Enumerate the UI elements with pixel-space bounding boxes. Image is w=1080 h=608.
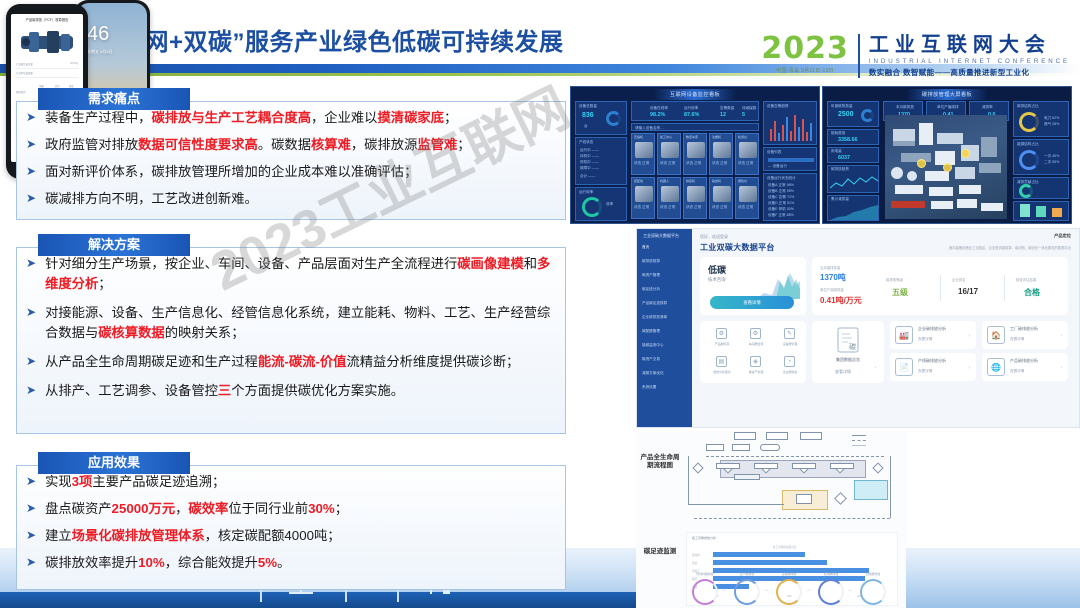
device-tile-label: 焊接机 bbox=[686, 179, 695, 183]
highlight-text: 3项 bbox=[72, 474, 93, 489]
device-tile-status: 状态 正常 bbox=[660, 205, 675, 210]
bullet-item: ➤碳减排方向不明，工艺改进创新难。 bbox=[26, 189, 554, 209]
panel-solution: 解决方案 ➤针对细分生产场景，按企业、车间、设备、产品层面对生产全流程进行碳画像… bbox=[16, 234, 566, 434]
metric-value: 五级 bbox=[892, 287, 908, 298]
plain-text: ，碳排放源 bbox=[351, 137, 417, 152]
platform-menu-item[interactable]: 系统设置 bbox=[642, 385, 656, 390]
plain-text: 实现 bbox=[45, 474, 72, 489]
analysis-card-icon: 🏭 bbox=[895, 326, 913, 344]
quick-action[interactable]: ⚙产品碳核算 bbox=[706, 327, 738, 353]
plain-text: ，综合能效提升 bbox=[165, 555, 258, 570]
platform-sidebar-logo: 工业双碳大数据平台 bbox=[643, 233, 679, 239]
kpi-label: 设备总数量 bbox=[579, 104, 597, 109]
donut-chart bbox=[1019, 112, 1039, 132]
plain-text: ； bbox=[98, 276, 111, 291]
highlight-text: 能流-碳流-价值 bbox=[258, 354, 347, 369]
document-icon: 碳 bbox=[837, 327, 859, 353]
quick-action-label: 企业碳档案 bbox=[774, 370, 806, 374]
plain-text: 碳减排方向不明，工艺改进创新难。 bbox=[45, 191, 258, 206]
metric-value: 0.41吨/万元 bbox=[820, 295, 862, 306]
sea-band bbox=[0, 592, 680, 608]
kpi-label: 本月碳排放 bbox=[896, 105, 914, 110]
quick-action-label: 设备碳管理 bbox=[774, 342, 806, 346]
plain-text: 的映射关系； bbox=[165, 325, 245, 340]
plain-text: 位于同行业前 bbox=[228, 501, 308, 516]
kpi-label: 待维保数 bbox=[742, 106, 756, 111]
rating-mini-chart bbox=[756, 269, 800, 299]
donut-label: 生产碳排放 bbox=[730, 572, 764, 576]
rating-cta-label: 查看详情 bbox=[743, 300, 761, 305]
plain-text: 。碳数据 bbox=[258, 137, 311, 152]
card-group-overview[interactable]: 碳 集团数据总览 查看详情 › bbox=[812, 321, 884, 383]
quick-action[interactable]: ▤能效分析报表 bbox=[706, 355, 738, 381]
arrow-right-icon: → bbox=[847, 587, 853, 593]
analysis-card-cta[interactable]: 查看详情 bbox=[1010, 369, 1024, 374]
bullet-item: ➤对接能源、设备、生产信息化、经管信息化系统，建立能耗、物料、工艺、生产经营综合… bbox=[26, 303, 554, 343]
logo-text-block: 工业互联网大会 INDUSTRIAL INTERNET CONFERENCE 数… bbox=[869, 34, 1070, 78]
bullet-arrow-icon: ➤ bbox=[26, 135, 36, 154]
bullet-item: ➤政府监管对排放数据可信性度要求高。碳数据核算难，碳排放源监管难； bbox=[26, 135, 554, 155]
metric-value: 1370吨 bbox=[820, 272, 846, 283]
device-thumbnail bbox=[713, 186, 731, 202]
trace-chart-label: 碳足迹监测 bbox=[638, 548, 682, 556]
analysis-card[interactable]: 🏠工厂碳排放分析查看详情› bbox=[982, 321, 1068, 349]
kpi-value: 12 bbox=[720, 112, 726, 118]
svg-text:碳: 碳 bbox=[849, 342, 856, 351]
slide-root: “工业互联网+双碳”服务产业绿色低碳可持续发展 2023 中国·青岛 9月11日… bbox=[0, 0, 1080, 608]
kpi-label: 运行效率 bbox=[579, 190, 593, 195]
metric-label: 年度碳排放量 bbox=[831, 104, 853, 109]
kpi-card-efficiency: 运行效率 效率 bbox=[575, 187, 627, 221]
bullet-text: 针对细分生产场景，按企业、车间、设备、产品层面对生产全流程进行碳画像建模和多维度… bbox=[45, 254, 554, 294]
bullet-arrow-icon: ➤ bbox=[26, 162, 36, 181]
metric-value: 6037 bbox=[838, 155, 850, 161]
bullet-item: ➤从产品全生命周期碳足迹和生产过程能流-碳流-价值流精益分析维度提供碳诊断； bbox=[26, 352, 554, 372]
analysis-card-title: 企业碳排放分析 bbox=[918, 326, 946, 332]
chevron-right-icon: › bbox=[1060, 333, 1062, 339]
plain-text: ，核定碳配额4000吨； bbox=[205, 528, 341, 543]
highlight-text: 5% bbox=[258, 555, 277, 570]
panel-results: 应用效果 ➤实现3项主要产品碳足迹追溯；➤盘点碳资产25000万元，碳效率位于同… bbox=[16, 452, 566, 590]
report-row-label: 产品单位碳排量 bbox=[16, 71, 33, 75]
bullet-item: ➤从排产、工艺调参、设备管控三个方面提供碳优化方案实施。 bbox=[26, 381, 554, 401]
highlight-text: 数据可信性度要求高 bbox=[138, 137, 258, 152]
platform-menu-item[interactable]: 碳排放核算 bbox=[642, 259, 660, 264]
panel-heading-results: 应用效果 bbox=[38, 452, 190, 474]
donut-chart bbox=[818, 579, 844, 605]
flow-legend bbox=[852, 432, 904, 448]
analysis-card-icon: 🌐 bbox=[987, 358, 1005, 376]
panel-bar-stack bbox=[1013, 201, 1069, 221]
device-thumbnail bbox=[739, 142, 757, 158]
quick-action[interactable]: ◔企业碳档案 bbox=[774, 355, 806, 381]
highlight-text: 25000万元 bbox=[112, 501, 176, 516]
bullet-item: ➤实现3项主要产品碳足迹追溯； bbox=[26, 472, 554, 492]
quick-action-label: 碳资产管理 bbox=[740, 370, 772, 374]
panel-ring-2: 能源结构占比 一次 45% 二次 55% bbox=[1013, 139, 1069, 175]
highlight-text: 碳画像建模 bbox=[457, 256, 523, 271]
plain-text: 主要产品碳足迹追溯； bbox=[92, 474, 225, 489]
quick-action-icon: ▤ bbox=[716, 356, 727, 367]
platform-menu-item[interactable]: 减碳方案优化 bbox=[642, 371, 664, 376]
panel-trend-line: 碳排放趋势 bbox=[827, 165, 879, 193]
bullet-arrow-icon: ➤ bbox=[26, 108, 36, 127]
metric-value: 3358.66 bbox=[838, 137, 858, 143]
highlight-text: 碳效率 bbox=[188, 501, 228, 516]
plain-text: 从排产、工艺调参、设备管控 bbox=[45, 383, 218, 398]
logo-separator bbox=[858, 34, 860, 78]
plain-text: ， bbox=[175, 501, 188, 516]
search-bar[interactable]: 请输入设备名称… bbox=[631, 123, 759, 131]
bullet-item: ➤盘点碳资产25000万元，碳效率位于同行业前30%； bbox=[26, 499, 554, 519]
analysis-card-icon: 📄 bbox=[895, 358, 913, 376]
platform-greeting: 您好，欢迎登录 bbox=[700, 234, 728, 240]
device-tile[interactable]: 加工中心状态 正常 bbox=[657, 133, 681, 175]
device-tile-label: 机器人 bbox=[660, 179, 669, 183]
flow-diagram-label: 产品全生命周期流程图 bbox=[638, 454, 682, 470]
plain-text: ； bbox=[335, 501, 348, 516]
highlight-text: 场景化碳排放管理体系 bbox=[72, 528, 205, 543]
donut-label: 运输碳排放 bbox=[772, 572, 806, 576]
quick-action-label: 产品碳核算 bbox=[706, 342, 738, 346]
kpi-label: 产线状态 bbox=[579, 140, 593, 145]
bullet-list-solution: ➤针对细分生产场景，按企业、车间、设备、产品层面对生产全流程进行碳画像建模和多维… bbox=[16, 234, 566, 416]
plain-text: 政府监管对排放 bbox=[45, 137, 138, 152]
quick-action-icon: ✎ bbox=[784, 328, 795, 339]
plain-text: 建立 bbox=[45, 528, 72, 543]
bullet-text: 装备生产过程中，碳排放与生产工艺耦合度高，企业难以摸清碳家底； bbox=[45, 108, 554, 128]
logo-date: 中国·青岛 9月11日-13日 bbox=[761, 67, 849, 74]
bullet-arrow-icon: ➤ bbox=[26, 254, 36, 273]
quick-action[interactable]: ⚙车间碳监测 bbox=[740, 327, 772, 353]
rating-cta-button[interactable]: 查看详情 bbox=[710, 296, 794, 309]
device-tile-label: 检测台 bbox=[738, 135, 747, 139]
kpi-label: 运行效率 bbox=[684, 106, 698, 111]
product-photo bbox=[17, 26, 77, 58]
screenshot-carbon-platform[interactable]: 工业双碳大数据平台 首页碳排放核算碳资产管理碳足迹分析产品碳足迹核算企业碳排放清… bbox=[636, 228, 1080, 428]
report-row-label: 产品碳足迹总量 bbox=[16, 62, 33, 66]
analysis-card-icon: 🏠 bbox=[987, 326, 1005, 344]
metric-label: 单位产品碳排量 bbox=[820, 287, 844, 292]
diagram-lifecycle-and-trace: 产品全生命周期流程图 碳足迹监测 bbox=[636, 432, 906, 608]
plain-text: 和 bbox=[524, 256, 537, 271]
metric-value: 2500 bbox=[838, 111, 854, 118]
rating-subtitle: 技术咨询 bbox=[708, 277, 726, 283]
bullet-item: ➤面对新评价体系，碳排放管理所增加的企业成本难以准确评估； bbox=[26, 162, 554, 182]
device-thumbnail bbox=[661, 186, 679, 202]
bullet-text: 面对新评价体系，碳排放管理所增加的企业成本难以准确评估； bbox=[45, 162, 554, 182]
panel-device-list: 设备列表 — 设备运行 bbox=[763, 147, 817, 171]
device-tile-status: 状态 正常 bbox=[712, 161, 727, 166]
device-tile[interactable]: 注塑机状态 正常 bbox=[709, 133, 733, 175]
panel-label: 设备运行状态统计 bbox=[767, 176, 796, 181]
donut-label: 回收碳排放 bbox=[856, 572, 890, 576]
device-tile[interactable]: 机器人状态 正常 bbox=[657, 177, 681, 219]
analysis-card[interactable]: 🏭企业碳排放分析查看详情› bbox=[890, 321, 976, 349]
trace-chart-title: 各工序碳排放量对比 bbox=[773, 545, 796, 549]
bullet-arrow-icon: ➤ bbox=[26, 472, 36, 491]
bullet-item: ➤碳排放效率提升10%，综合能效提升5%。 bbox=[26, 553, 554, 573]
plain-text: 从产品全生命周期碳足迹和生产过程 bbox=[45, 354, 258, 369]
chevron-right-icon: › bbox=[968, 365, 970, 371]
screenshot-plant-dashboard[interactable]: 碳排放管理大屏看板 年度碳排放量 2500 能耗费用 3358.66 用电量 6… bbox=[822, 86, 1072, 224]
donut-chart bbox=[1019, 150, 1039, 170]
platform-title: 工业双碳大数据平台 bbox=[700, 242, 775, 253]
chevron-right-icon: › bbox=[968, 333, 970, 339]
plant-3d-view[interactable] bbox=[885, 115, 1007, 219]
analysis-card-title: 工厂碳排放分析 bbox=[1010, 326, 1038, 332]
metric-value: 合格 bbox=[1024, 287, 1040, 298]
device-tile-label: 装配线 bbox=[634, 179, 643, 183]
platform-menu-item[interactable]: 能碳监测中心 bbox=[642, 343, 664, 348]
bullet-arrow-icon: ➤ bbox=[26, 499, 36, 518]
analysis-card-cta[interactable]: 查看详情 bbox=[918, 337, 932, 342]
area-chart bbox=[830, 204, 878, 220]
plain-text: ，企业难以 bbox=[311, 110, 377, 125]
bullet-item: ➤装备生产过程中，碳排放与生产工艺耦合度高，企业难以摸清碳家底； bbox=[26, 108, 554, 128]
platform-menu-item[interactable]: 碳足迹分析 bbox=[642, 287, 660, 292]
arrow-right-icon: → bbox=[805, 587, 811, 593]
device-tile-label: 加工中心 bbox=[660, 135, 672, 139]
kpi-label: 单位产值碳排 bbox=[937, 105, 959, 110]
plain-text: 个方面提供碳优化方案实施。 bbox=[231, 383, 404, 398]
bullet-text: 从排产、工艺调参、设备管控三个方面提供碳优化方案实施。 bbox=[45, 381, 554, 401]
metric-card-annual-emission: 年度碳排放量 2500 bbox=[827, 101, 879, 127]
panel-label: 碳排结构占比 bbox=[1017, 104, 1039, 109]
gauge-ring bbox=[861, 109, 874, 122]
highlight-text: 监管难 bbox=[417, 137, 457, 152]
panel-area-chart: 累计减排量 bbox=[827, 195, 879, 221]
device-tile[interactable]: 输送机状态 正常 bbox=[709, 177, 733, 219]
card-carbon-rating: 低碳 技术咨询 查看详情 bbox=[700, 257, 806, 315]
kpi-value: 5 bbox=[742, 112, 745, 118]
quick-action-label: 车间碳监测 bbox=[740, 342, 772, 346]
plain-text: 针对细分生产场景，按企业、车间、设备、产品层面对生产全流程进行 bbox=[45, 256, 457, 271]
bullet-text: 从产品全生命周期碳足迹和生产过程能流-碳流-价值流精益分析维度提供碳诊断； bbox=[45, 352, 554, 372]
donut-chart bbox=[734, 579, 760, 605]
device-thumbnail bbox=[661, 142, 679, 158]
device-tile-label: 输送机 bbox=[712, 179, 721, 183]
efficiency-donut bbox=[582, 197, 602, 217]
bullet-text: 实现3项主要产品碳足迹追溯； bbox=[45, 472, 554, 492]
arrow-right-icon: → bbox=[721, 587, 727, 593]
panel-heading-pain-points: 需求痛点 bbox=[38, 88, 190, 110]
platform-menu-item[interactable]: 首页 bbox=[642, 245, 649, 250]
plain-text: 盘点碳资产 bbox=[45, 501, 111, 516]
bullet-text: 对接能源、设备、生产信息化、经管信息化系统，建立能耗、物料、工艺、生产经营综合数… bbox=[45, 303, 554, 343]
metric-label: 能耗费用 bbox=[831, 131, 845, 136]
platform-menu-item[interactable]: 碳资产交易 bbox=[642, 357, 660, 362]
highlight-text: 三 bbox=[218, 383, 231, 398]
analysis-card[interactable]: 📄产线碳排放分析查看详情› bbox=[890, 353, 976, 381]
highlight-text: 碳排放与生产工艺耦合度高 bbox=[151, 110, 311, 125]
device-tile-status: 状态 正常 bbox=[634, 161, 649, 166]
trend-sparkline bbox=[830, 174, 878, 192]
panel-ring-1: 碳排结构占比 电力 62% 燃气 28% bbox=[1013, 101, 1069, 137]
highlight-text: 10% bbox=[138, 555, 165, 570]
bullet-item: ➤针对细分生产场景，按企业、车间、设备、产品层面对生产全流程进行碳画像建模和多维… bbox=[26, 254, 554, 294]
quick-action-label: 能效分析报表 bbox=[706, 370, 738, 374]
panel-ring-3: 减排贡献占比 bbox=[1013, 177, 1069, 199]
device-tile-label: 注塑机 bbox=[712, 135, 721, 139]
bullet-text: 碳排放效率提升10%，综合能效提升5%。 bbox=[45, 553, 554, 573]
device-thumbnail bbox=[687, 186, 705, 202]
metric-value: 16/17 bbox=[958, 287, 978, 296]
platform-menu-item[interactable]: 碳资产管理 bbox=[642, 273, 660, 278]
platform-main: 您好，欢迎登录 工业双碳大数据平台 产品定位 面向装备制造业工业园区、企业提供碳… bbox=[692, 229, 1079, 427]
platform-sidebar: 工业双碳大数据平台 首页碳排放核算碳资产管理碳足迹分析产品碳足迹核算企业碳排放清… bbox=[637, 229, 692, 428]
dashboard-title: 碳排放管理大屏看板 bbox=[906, 89, 988, 100]
device-tile-status: 状态 正常 bbox=[634, 205, 649, 210]
lock-time: 46 bbox=[87, 23, 109, 46]
panel-label: 能源结构占比 bbox=[1017, 142, 1039, 147]
logo-chinese-name: 工业互联网大会 bbox=[869, 35, 1070, 56]
kpi-label: 告警数量 bbox=[720, 106, 734, 111]
quick-action-icon: ⚙ bbox=[750, 328, 761, 339]
bullet-text: 建立场景化碳排放管理体系，核定碳配额4000吨； bbox=[45, 526, 554, 546]
device-tile-status: 状态 正常 bbox=[712, 205, 727, 210]
doc-card-cta[interactable]: 查看详情 bbox=[812, 369, 874, 375]
quick-action-icon: ◔ bbox=[784, 356, 795, 367]
device-tile-status: 状态 正常 bbox=[738, 161, 753, 166]
donut-chart bbox=[692, 579, 718, 605]
card-quick-actions: ⚙产品碳核算⚙车间碳监测✎设备碳管理▤能效分析报表◈碳资产管理◔企业碳档案 bbox=[700, 321, 806, 383]
bullet-arrow-icon: ➤ bbox=[26, 526, 36, 545]
bullet-item: ➤建立场景化碳排放管理体系，核定碳配额4000吨； bbox=[26, 526, 554, 546]
dashboard-title: 互联网设备监控看板 bbox=[654, 89, 736, 100]
donut-label: 使用碳排放 bbox=[814, 572, 848, 576]
device-tile[interactable]: 装配线状态 正常 bbox=[631, 177, 655, 219]
donut-stage-row: 原材料碳排放→生产碳排放→运输碳排放→使用碳排放→回收碳排放 bbox=[686, 572, 898, 608]
chevron-right-icon: › bbox=[1060, 365, 1062, 371]
donut-chart bbox=[860, 579, 886, 605]
quick-action[interactable]: ✎设备碳管理 bbox=[774, 327, 806, 353]
device-tile-status: 状态 正常 bbox=[686, 205, 701, 210]
device-tile[interactable]: 焊接机状态 正常 bbox=[683, 177, 707, 219]
device-thumbnail bbox=[635, 142, 653, 158]
process-flow-diagram bbox=[686, 432, 904, 528]
bullet-arrow-icon: ➤ bbox=[26, 381, 36, 400]
device-tile[interactable]: 质检仪状态 正常 bbox=[735, 177, 759, 219]
logo-year-block: 2023 中国·青岛 9月11日-13日 bbox=[761, 34, 858, 74]
quick-action-icon: ⚙ bbox=[716, 328, 727, 339]
device-tile-label: 质检仪 bbox=[738, 179, 747, 183]
plain-text: ； bbox=[457, 137, 470, 152]
report-title: 产品碳排放（PCF）核算报告 bbox=[11, 17, 83, 22]
analysis-card-cta[interactable]: 查看详情 bbox=[1010, 337, 1024, 342]
panel-pain-points: 需求痛点 ➤装备生产过程中，碳排放与生产工艺耦合度高，企业难以摸清碳家底；➤政府… bbox=[16, 88, 566, 220]
screenshot-equipment-dashboard[interactable]: 互联网设备监控看板 设备总数量 836 台 产线状态 运行中 —— 待机中 ——… bbox=[570, 86, 820, 224]
panel-label: 设备告警趋势 bbox=[767, 104, 789, 109]
kpi-value: 836 bbox=[582, 112, 594, 119]
platform-description: 面向装备制造业工业园区、企业提供碳核算、碳诊断、碳优化一体化服务的数据平台 bbox=[871, 245, 1071, 250]
metric-label: 核查评估结果 bbox=[1016, 277, 1036, 282]
kpi-label: 减排率 bbox=[982, 105, 993, 110]
metric-label: 用电量 bbox=[831, 149, 842, 154]
bullet-arrow-icon: ➤ bbox=[26, 553, 36, 572]
device-thumbnail bbox=[713, 142, 731, 158]
kpi-label: 设备在线率 bbox=[650, 106, 668, 111]
platform-right-label: 产品定位 bbox=[1054, 233, 1071, 239]
device-thumbnail bbox=[687, 142, 705, 158]
logo-tagline: 数实融合 数智赋能——高质量推进新型工业化 bbox=[869, 67, 1070, 78]
metric-card-electricity: 用电量 6037 bbox=[827, 147, 879, 163]
device-tile[interactable]: 数控车床状态 正常 bbox=[683, 133, 707, 175]
panel-heading-solution: 解决方案 bbox=[38, 234, 190, 256]
plain-text: 面对新评价体系，碳排放管理所增加的企业成本难以准确评估； bbox=[45, 164, 417, 179]
device-tile-status: 状态 正常 bbox=[660, 161, 675, 166]
highlight-text: 核算难 bbox=[311, 137, 351, 152]
card-metric-strip: 当月碳排放量 1370吨 单位产品碳排量 0.41吨/万元 碳排放等级 五级 企… bbox=[812, 257, 1068, 315]
analysis-card-cta[interactable]: 查看详情 bbox=[918, 369, 932, 374]
kpi-card-line-status: 产线状态 运行中 —— 待机中 —— 停机中 —— 故障中 —— 合计 —— bbox=[575, 137, 627, 185]
metric-label: 碳排放等级 bbox=[886, 277, 903, 282]
panel-alarm-trend: 设备告警趋势 bbox=[763, 101, 817, 145]
report-total: 18.5 kg bbox=[70, 62, 78, 65]
lock-date: 星期五 9月8日 bbox=[87, 49, 113, 55]
plain-text: 装备生产过程中， bbox=[45, 110, 151, 125]
bullet-arrow-icon: ➤ bbox=[26, 352, 36, 371]
metric-label: 当月碳排放量 bbox=[820, 265, 840, 270]
kpi-card-device-count: 设备总数量 836 台 bbox=[575, 101, 627, 135]
panel-label: 设备列表 bbox=[767, 150, 781, 155]
analysis-card-title: 产品碳排放分析 bbox=[1010, 358, 1038, 364]
highlight-text: 碳核算数据 bbox=[98, 325, 164, 340]
donut-chart bbox=[776, 579, 802, 605]
kpi-unit: 台 bbox=[584, 124, 588, 129]
gauge-ring bbox=[606, 111, 621, 126]
panel-status-stats: 设备运行状态统计 设备A 正常 98% 设备B 正常 95% 设备C 告警 72… bbox=[763, 173, 817, 221]
platform-menu-item[interactable]: 产品碳足迹核算 bbox=[642, 301, 667, 306]
metric-label: 企业排名 bbox=[952, 277, 966, 282]
device-tile-label: 压缩机 bbox=[634, 135, 643, 139]
bullet-text: 盘点碳资产25000万元，碳效率位于同行业前30%； bbox=[45, 499, 554, 519]
kpi-value: 87.6% bbox=[684, 112, 699, 118]
doc-card-title: 集团数据总览 bbox=[812, 357, 884, 363]
bullet-text: 碳减排方向不明，工艺改进创新难。 bbox=[45, 189, 554, 209]
platform-menu-item[interactable]: 碳配额管理 bbox=[642, 329, 660, 334]
device-tile-label: 数控车床 bbox=[686, 135, 698, 139]
logo-year: 2023 bbox=[761, 34, 849, 64]
plain-text: 。 bbox=[277, 555, 290, 570]
device-tile-status: 状态 正常 bbox=[738, 205, 753, 210]
metric-card-energy-cost: 能耗费用 3358.66 bbox=[827, 129, 879, 145]
arrow-right-icon: → bbox=[763, 587, 769, 593]
highlight-text: 摸清碳家底 bbox=[377, 110, 443, 125]
platform-menu-item[interactable]: 企业碳排放清单 bbox=[642, 315, 667, 320]
analysis-card[interactable]: 🌐产品碳排放分析查看详情› bbox=[982, 353, 1068, 381]
kpi-value: 98.2% bbox=[650, 112, 665, 118]
quick-action[interactable]: ◈碳资产管理 bbox=[740, 355, 772, 381]
donut-label: 原材料碳排放 bbox=[688, 572, 722, 576]
device-tile-status: 状态 正常 bbox=[686, 161, 701, 166]
plain-text: ； bbox=[444, 110, 457, 125]
device-thumbnail bbox=[635, 186, 653, 202]
quick-action-icon: ◈ bbox=[750, 356, 761, 367]
logo-english-name: INDUSTRIAL INTERNET CONFERENCE bbox=[869, 58, 1070, 65]
conference-logo: 2023 中国·青岛 9月11日-13日 工业互联网大会 INDUSTRIAL … bbox=[761, 34, 1070, 78]
plain-text: 流精益分析维度提供碳诊断； bbox=[346, 354, 519, 369]
bullet-arrow-icon: ➤ bbox=[26, 303, 36, 322]
kpi-strip: 设备在线率 98.2% 运行效率 87.6% 告警数量 12 待维保数 5 bbox=[631, 101, 759, 121]
donut-chart bbox=[1019, 184, 1033, 198]
device-tile[interactable]: 压缩机状态 正常 bbox=[631, 133, 655, 175]
highlight-text: 30% bbox=[308, 501, 335, 516]
analysis-card-title: 产线碳排放分析 bbox=[918, 358, 946, 364]
bullet-text: 政府监管对排放数据可信性度要求高。碳数据核算难，碳排放源监管难； bbox=[45, 135, 554, 155]
device-thumbnail bbox=[739, 186, 757, 202]
device-tile[interactable]: 检测台状态 正常 bbox=[735, 133, 759, 175]
